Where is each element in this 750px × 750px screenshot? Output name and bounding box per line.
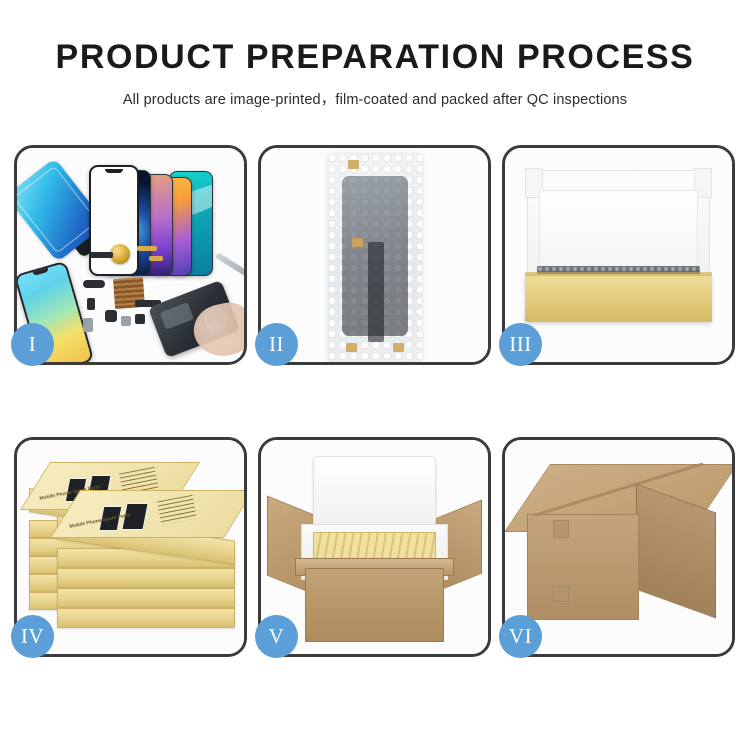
page-title: PRODUCT PREPARATION PROCESS (0, 38, 750, 77)
sealed-carton-illustration (505, 440, 732, 654)
screw-set-icon (121, 316, 131, 326)
flex-cable-icon (137, 246, 157, 251)
tape-bottom-left-icon (346, 343, 357, 352)
antenna-cable-icon (83, 280, 105, 288)
process-step-6[interactable]: VI (502, 437, 735, 657)
tape-mid-icon (352, 238, 363, 247)
step-badge-6: VI (499, 615, 542, 658)
process-step-4[interactable]: Mobile Phone Spare Parts Mobile Phone Sp… (14, 437, 247, 657)
step-4-image: Mobile Phone Spare Parts Mobile Phone Sp… (17, 440, 244, 654)
stacked-box (57, 608, 235, 628)
wrapped-flex-cable-icon (368, 242, 384, 342)
stacked-box (57, 568, 235, 588)
vibration-motor-icon (110, 244, 130, 264)
inner-box-front-wall-icon (525, 274, 712, 322)
process-step-3[interactable]: III (502, 145, 735, 365)
carton-loading-illustration (261, 440, 488, 654)
process-step-1[interactable]: I (14, 145, 247, 365)
carton-tape-lower-icon (553, 586, 569, 602)
step-1-image (17, 148, 244, 362)
step-badge-5: V (255, 615, 298, 658)
flex-cable-small-icon (149, 256, 163, 261)
tape-top-icon (348, 160, 359, 169)
step-6-image (505, 440, 732, 654)
retail-box-stack: Mobile Phone Spare Parts Mobile Phone Sp… (29, 456, 237, 644)
carton-front-face-icon (527, 514, 639, 620)
step-3-image (505, 148, 732, 362)
button-flex-icon (135, 314, 145, 324)
bubble-wrapped-part-illustration (261, 148, 488, 362)
white-foam-sheet-icon (539, 190, 698, 278)
process-step-5[interactable]: V (258, 437, 491, 657)
speaker-icon (87, 298, 95, 310)
step-5-image (261, 440, 488, 654)
page-subtitle: All products are image-printed，film-coat… (0, 88, 750, 109)
phone-notch-icon (105, 169, 123, 173)
battery-connector-icon (89, 252, 113, 258)
process-step-2[interactable]: II (258, 145, 491, 365)
step-badge-3: III (499, 323, 542, 366)
step-2-image (261, 148, 488, 362)
step-badge-1: I (11, 323, 54, 366)
phones-and-parts-illustration (17, 148, 244, 362)
foam-lined-box-illustration (505, 148, 732, 362)
bubble-wrap-bag-icon (328, 154, 422, 362)
process-step-grid: I II (14, 145, 736, 657)
step-badge-2: II (255, 323, 298, 366)
carton-body-icon (305, 568, 444, 642)
camera-module-icon (105, 310, 117, 322)
carton-tape-upper-icon (553, 520, 569, 538)
sim-tray-icon (83, 318, 93, 332)
box-stack-illustration: Mobile Phone Spare Parts Mobile Phone Sp… (17, 440, 244, 654)
step-badge-4: IV (11, 615, 54, 658)
box-lid-face-front (50, 490, 244, 538)
tape-bottom-right-icon (393, 343, 404, 352)
stacked-box (57, 588, 235, 608)
foam-lid-icon (313, 456, 436, 532)
page-header: PRODUCT PREPARATION PROCESS All products… (0, 0, 750, 109)
